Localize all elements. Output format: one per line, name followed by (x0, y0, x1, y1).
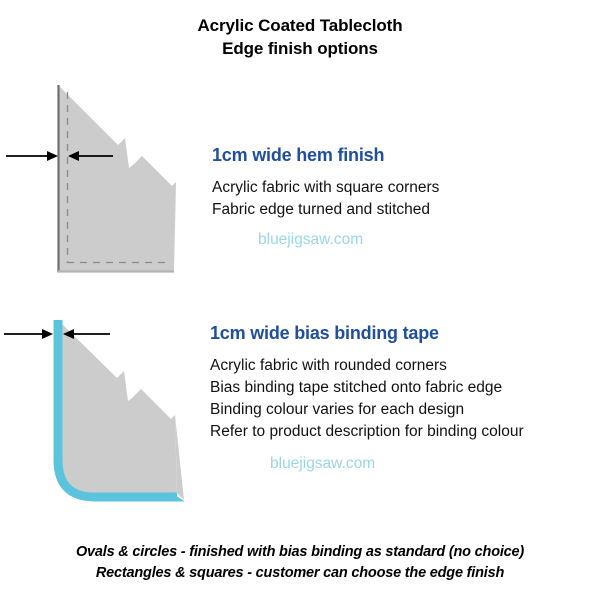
hem-finish-text-block: 1cm wide hem finish Acrylic fabric with … (196, 144, 596, 251)
title-line-2: Edge finish options (0, 37, 600, 60)
fabric-shape-rounded-corner (58, 320, 177, 497)
bias-binding-heading: 1cm wide bias binding tape (210, 322, 596, 344)
footer-line-2: Rectangles & squares - customer can choo… (0, 563, 600, 584)
hem-finish-line-1: Acrylic fabric with square corners (212, 177, 596, 199)
hem-finish-line-2: Fabric edge turned and stitched (212, 199, 596, 221)
hem-width-arrow-left (6, 151, 58, 161)
fabric-shape-square-corner (58, 85, 176, 272)
binding-width-arrow-left (4, 329, 53, 339)
hem-finish-site-link: bluejigsaw.com (258, 229, 596, 251)
bias-binding-line-3: Binding colour varies for each design (210, 399, 596, 421)
page-title: Acrylic Coated Tablecloth Edge finish op… (0, 14, 600, 60)
bias-binding-line-4: Refer to product description for binding… (210, 421, 596, 443)
bias-binding-site-link: bluejigsaw.com (270, 453, 596, 475)
title-line-1: Acrylic Coated Tablecloth (0, 14, 600, 37)
footer-line-1: Ovals & circles - finished with bias bin… (0, 542, 600, 563)
footer-note: Ovals & circles - finished with bias bin… (0, 542, 600, 584)
bias-binding-line-1: Acrylic fabric with rounded corners (210, 355, 596, 377)
bias-binding-text-block: 1cm wide bias binding tape Acrylic fabri… (196, 322, 596, 475)
hem-finish-heading: 1cm wide hem finish (212, 144, 596, 166)
bias-binding-line-2: Bias binding tape stitched onto fabric e… (210, 377, 596, 399)
edge-finish-options-infographic: Acrylic Coated Tablecloth Edge finish op… (0, 0, 600, 600)
